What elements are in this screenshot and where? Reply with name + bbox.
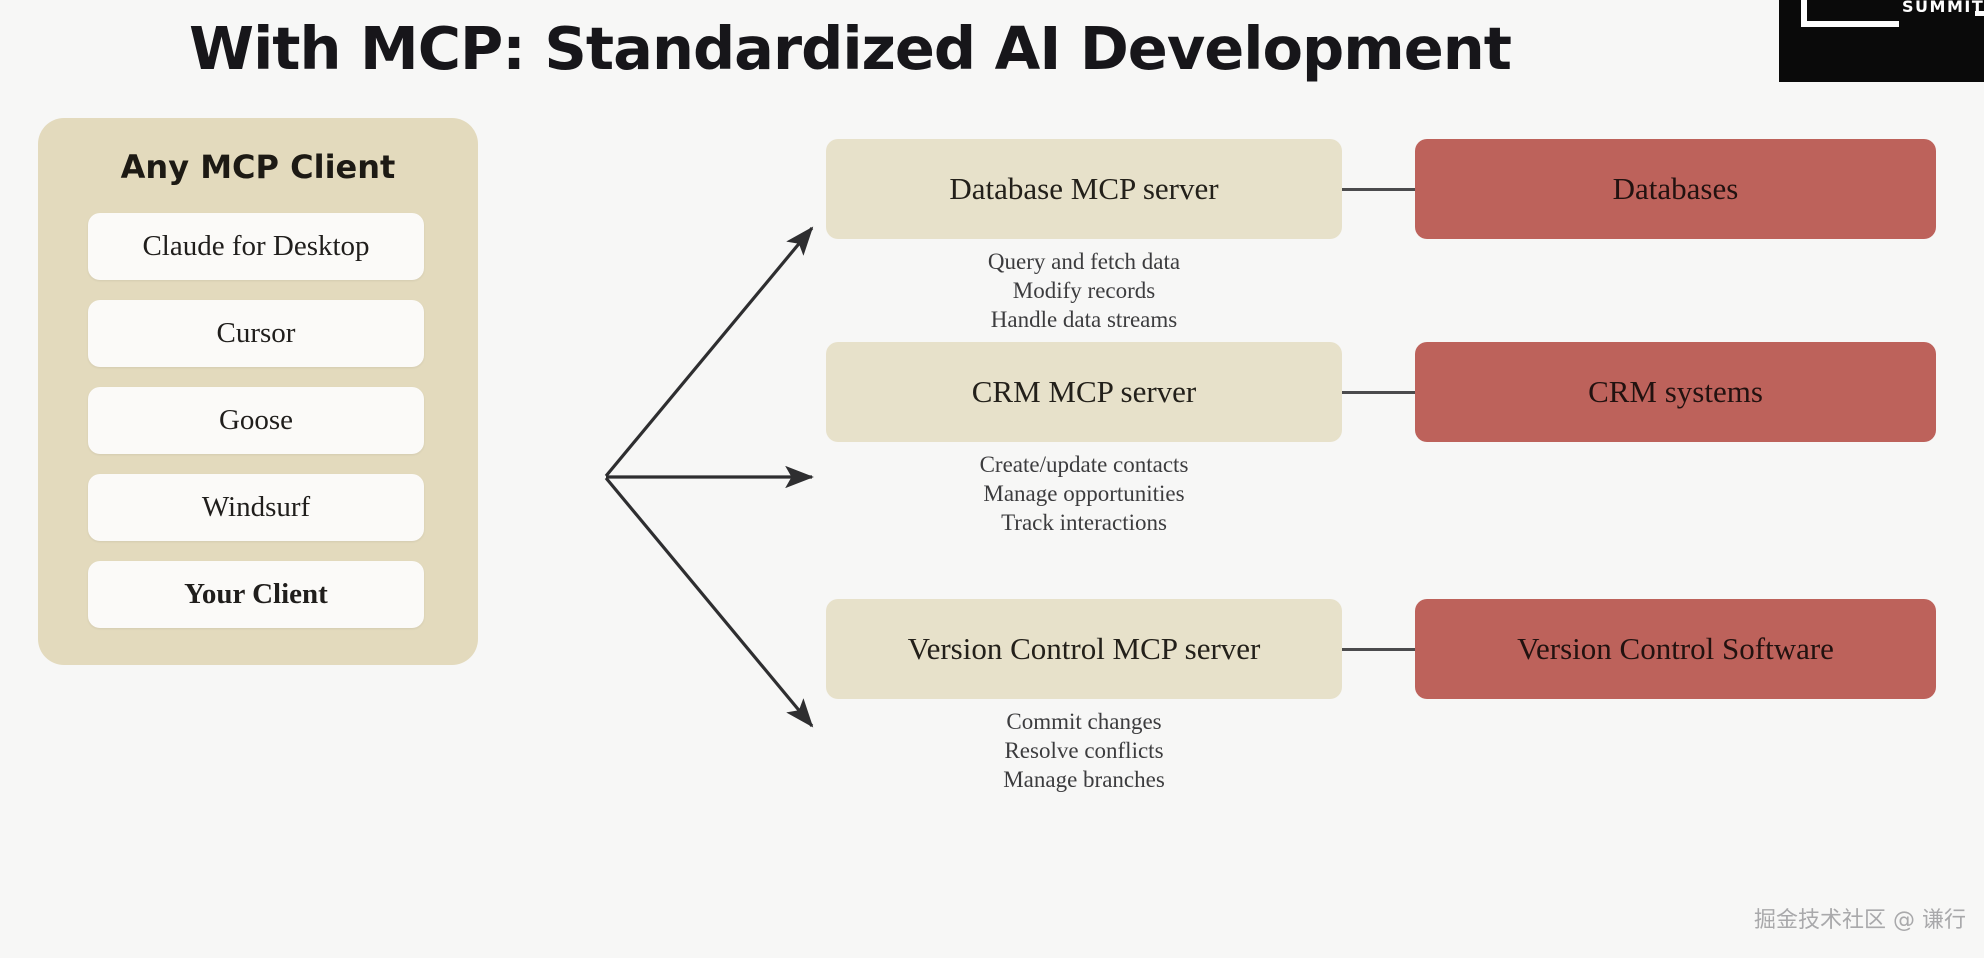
capability-item: Handle data streams: [826, 305, 1342, 334]
client-list: Claude for Desktop Cursor Goose Windsurf…: [88, 213, 424, 648]
arrow-to-database-server: [606, 228, 812, 476]
server-box-label: Version Control MCP server: [908, 631, 1261, 667]
capability-list-database: Query and fetch data Modify records Hand…: [826, 247, 1342, 334]
capability-item: Manage branches: [826, 765, 1342, 794]
capability-list-version-control: Commit changes Resolve conflicts Manage …: [826, 707, 1342, 794]
logo-dash-icon: [1975, 11, 1984, 16]
capability-item: Modify records: [826, 276, 1342, 305]
server-box-label: CRM MCP server: [972, 374, 1196, 410]
client-card-label: Goose: [219, 404, 293, 437]
arrow-to-version-control-server: [606, 478, 812, 726]
capability-item: Resolve conflicts: [826, 736, 1342, 765]
summit-logo: SUMMIT: [1779, 0, 1984, 82]
server-box-version-control[interactable]: Version Control MCP server: [826, 599, 1342, 699]
target-box-label: CRM systems: [1588, 374, 1763, 410]
capability-item: Manage opportunities: [826, 479, 1342, 508]
client-card-cursor[interactable]: Cursor: [88, 300, 424, 367]
watermark: 掘金技术社区 @ 谦行: [1754, 902, 1966, 934]
link-line-database: [1342, 188, 1415, 191]
server-box-crm[interactable]: CRM MCP server: [826, 342, 1342, 442]
target-box-crm-systems[interactable]: CRM systems: [1415, 342, 1936, 442]
client-card-claude-for-desktop[interactable]: Claude for Desktop: [88, 213, 424, 280]
capability-item: Query and fetch data: [826, 247, 1342, 276]
target-box-label: Databases: [1613, 171, 1739, 207]
link-line-crm: [1342, 391, 1415, 394]
client-card-label: Cursor: [217, 317, 296, 350]
capability-item: Commit changes: [826, 707, 1342, 736]
client-card-your-client[interactable]: Your Client: [88, 561, 424, 628]
client-card-label: Windsurf: [202, 491, 310, 524]
target-box-databases[interactable]: Databases: [1415, 139, 1936, 239]
client-card-goose[interactable]: Goose: [88, 387, 424, 454]
target-box-label: Version Control Software: [1517, 631, 1834, 667]
client-panel-heading: Any MCP Client: [38, 148, 478, 186]
client-card-label: Your Client: [184, 578, 328, 611]
logo-label: SUMMIT: [1902, 0, 1984, 16]
capability-item: Track interactions: [826, 508, 1342, 537]
client-card-label: Claude for Desktop: [142, 230, 369, 263]
client-panel: Any MCP Client Claude for Desktop Cursor…: [38, 118, 478, 665]
capability-item: Create/update contacts: [826, 450, 1342, 479]
capability-list-crm: Create/update contacts Manage opportunit…: [826, 450, 1342, 537]
target-box-version-control-software[interactable]: Version Control Software: [1415, 599, 1936, 699]
logo-bracket-icon: [1801, 0, 1899, 27]
diagram-canvas: With MCP: Standardized AI Development SU…: [0, 0, 1984, 958]
page-title: With MCP: Standardized AI Development: [0, 14, 1700, 83]
server-box-label: Database MCP server: [949, 171, 1218, 207]
link-line-version-control: [1342, 648, 1415, 651]
server-box-database[interactable]: Database MCP server: [826, 139, 1342, 239]
client-card-windsurf[interactable]: Windsurf: [88, 474, 424, 541]
